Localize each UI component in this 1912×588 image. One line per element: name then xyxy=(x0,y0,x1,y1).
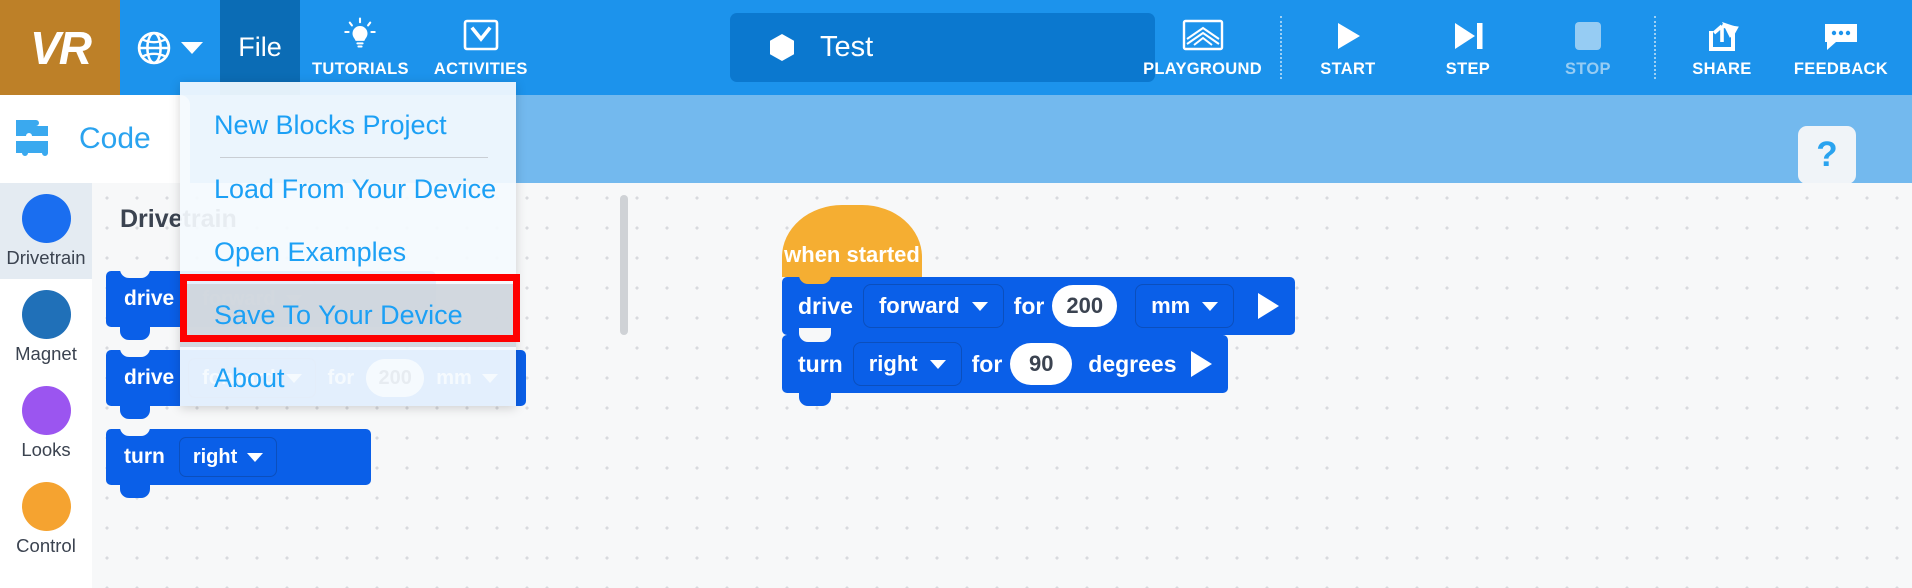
palette-block-dropdown[interactable]: right xyxy=(179,437,277,477)
tutorials-label: TUTORIALS xyxy=(312,60,409,79)
menu-item-save-to-your-device[interactable]: Save To Your Device xyxy=(180,284,516,347)
sidebar-item-label: Magnet xyxy=(15,343,77,365)
workspace-scrollbar[interactable] xyxy=(620,195,628,335)
drive-direction-dropdown[interactable]: forward xyxy=(863,284,1004,328)
vexcode-vr-app: Code ? Drivetrain Magnet Looks Control D… xyxy=(0,0,1912,588)
toolbar-divider xyxy=(1280,16,1282,79)
menu-item-label: Save To Your Device xyxy=(214,300,463,331)
stop-button[interactable]: STOP xyxy=(1528,0,1648,95)
chevron-down-icon xyxy=(247,453,263,462)
stop-label: STOP xyxy=(1565,60,1611,79)
drivetrain-color-dot xyxy=(22,194,71,243)
when-started-block[interactable]: when started xyxy=(782,205,922,277)
code-workspace[interactable]: when started drive forward for 200 mm tu… xyxy=(532,183,1912,588)
palette-block-name: drive xyxy=(124,287,174,311)
share-button[interactable]: SHARE xyxy=(1662,0,1782,95)
toolbar-divider xyxy=(1654,16,1656,79)
drive-distance-input[interactable]: 200 xyxy=(1052,285,1117,327)
palette-block-name: turn xyxy=(124,445,165,469)
feedback-button[interactable]: FEEDBACK xyxy=(1782,0,1912,95)
menu-item-load-from-your-device[interactable]: Load From Your Device xyxy=(180,158,516,221)
turn-unit-label: degrees xyxy=(1088,351,1176,378)
blocks-icon xyxy=(14,117,66,161)
tab-code[interactable]: Code xyxy=(0,95,190,183)
drive-unit-value: mm xyxy=(1151,293,1190,319)
globe-icon xyxy=(137,31,171,65)
tutorials-button[interactable]: TUTORIALS xyxy=(300,0,421,95)
run-block-icon[interactable] xyxy=(1191,351,1212,377)
chevron-down-icon xyxy=(972,302,988,311)
step-button[interactable]: STEP xyxy=(1408,0,1528,95)
language-selector[interactable] xyxy=(120,0,220,95)
activities-button[interactable]: ACTIVITIES xyxy=(421,0,541,95)
looks-color-dot xyxy=(22,386,71,435)
turn-direction-value: right xyxy=(869,351,918,377)
drive-block[interactable]: drive forward for 200 mm xyxy=(782,277,1295,335)
sidebar-item-magnet[interactable]: Magnet xyxy=(0,279,92,375)
palette-block-name: drive xyxy=(124,366,174,390)
menu-item-new-blocks-project[interactable]: New Blocks Project xyxy=(180,94,516,157)
menu-item-label: Load From Your Device xyxy=(214,174,496,205)
start-label: START xyxy=(1320,60,1375,79)
menu-item-label: New Blocks Project xyxy=(214,110,447,141)
sidebar-item-label: Looks xyxy=(21,439,70,461)
chevron-down-icon xyxy=(1202,302,1218,311)
menu-item-open-examples[interactable]: Open Examples xyxy=(180,221,516,284)
play-icon xyxy=(1330,16,1366,56)
turn-block[interactable]: turn right for 90 degrees xyxy=(782,335,1228,393)
feedback-label: FEEDBACK xyxy=(1794,60,1888,79)
share-label: SHARE xyxy=(1692,60,1751,79)
checkbox-window-icon xyxy=(460,16,502,56)
playground-icon xyxy=(1180,16,1226,56)
hexagon-icon xyxy=(770,34,794,61)
sidebar-item-drivetrain[interactable]: Drivetrain xyxy=(0,183,92,279)
palette-block-dropdown-value: right xyxy=(193,446,237,469)
activities-label: ACTIVITIES xyxy=(434,60,528,79)
playground-button[interactable]: PLAYGROUND xyxy=(1131,0,1274,95)
category-rail: Drivetrain Magnet Looks Control xyxy=(0,183,92,588)
menu-item-label: About xyxy=(214,363,285,394)
playground-label: PLAYGROUND xyxy=(1143,60,1262,79)
step-icon xyxy=(1449,16,1487,56)
file-menu-button[interactable]: File xyxy=(220,0,300,95)
drive-direction-value: forward xyxy=(879,293,960,319)
run-block-icon[interactable] xyxy=(1258,293,1279,319)
turn-direction-dropdown[interactable]: right xyxy=(853,342,962,386)
drive-block-name: drive xyxy=(798,293,853,320)
turn-angle-input[interactable]: 90 xyxy=(1010,343,1072,385)
step-label: STEP xyxy=(1446,60,1490,79)
menu-item-about[interactable]: About xyxy=(180,347,516,410)
tab-code-label: Code xyxy=(79,122,151,156)
sidebar-item-control[interactable]: Control xyxy=(0,471,92,567)
lightbulb-icon xyxy=(340,16,380,56)
palette-block-turn[interactable]: turn right xyxy=(106,429,371,485)
turn-block-name: turn xyxy=(798,351,843,378)
when-started-label: when started xyxy=(784,242,920,268)
drive-for-label: for xyxy=(1014,293,1045,320)
sidebar-item-looks[interactable]: Looks xyxy=(0,375,92,471)
sidebar-item-label: Control xyxy=(16,535,76,557)
magnet-color-dot xyxy=(22,290,71,339)
stop-icon xyxy=(1572,16,1604,56)
control-color-dot xyxy=(22,482,71,531)
share-icon xyxy=(1703,16,1741,56)
file-dropdown-menu: New Blocks Project Load From Your Device… xyxy=(180,82,516,406)
vr-logo-text: VR xyxy=(30,21,90,75)
chevron-down-icon xyxy=(930,360,946,369)
file-menu-label: File xyxy=(238,32,282,63)
turn-for-label: for xyxy=(972,351,1003,378)
vr-logo[interactable]: VR xyxy=(0,0,120,95)
drive-unit-dropdown[interactable]: mm xyxy=(1135,284,1234,328)
toolbar-actions: PLAYGROUND START STEP xyxy=(1131,0,1912,95)
sidebar-item-label: Drivetrain xyxy=(6,247,85,269)
project-title-field[interactable]: Test xyxy=(730,13,1155,82)
chevron-down-icon xyxy=(181,42,203,54)
help-button[interactable]: ? xyxy=(1798,126,1856,184)
help-label: ? xyxy=(1816,135,1837,175)
feedback-icon xyxy=(1821,16,1861,56)
start-button[interactable]: START xyxy=(1288,0,1408,95)
project-title: Test xyxy=(820,31,873,64)
menu-item-label: Open Examples xyxy=(214,237,406,268)
